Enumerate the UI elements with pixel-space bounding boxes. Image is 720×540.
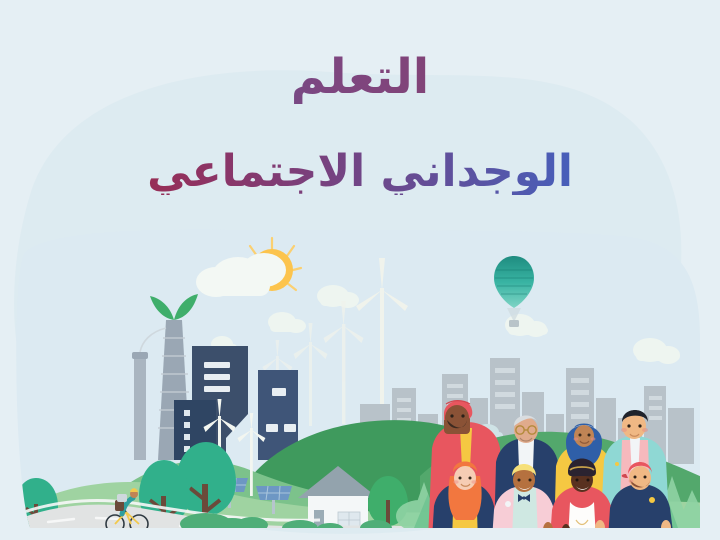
illustration-svg xyxy=(0,228,720,540)
chimney xyxy=(132,352,148,460)
title-line-1: التعلم xyxy=(0,52,720,104)
title-line-2: الوجداني الاجتماعي xyxy=(0,148,720,196)
badge xyxy=(649,497,655,503)
foreground-mist xyxy=(582,532,694,540)
slide-title: التعلم الوجداني الاجتماعي xyxy=(0,52,720,195)
slide-canvas: التعلم الوجداني الاجتماعي xyxy=(0,0,720,540)
illustration-sustainable-city xyxy=(0,228,720,540)
